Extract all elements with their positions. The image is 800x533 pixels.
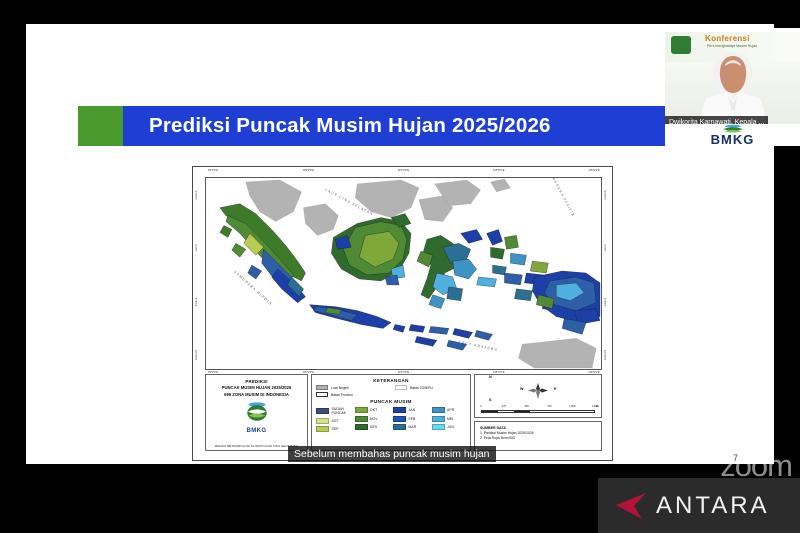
scale-unit-label: Km (595, 405, 599, 408)
scale-tick-labels: 01753507001.0501.400Km (481, 405, 595, 410)
scale-tick-label: 1.050 (569, 405, 576, 408)
lat-tick-label: 10°0'0"S (603, 350, 606, 360)
letterbox-top (0, 0, 800, 24)
map-lat-ticks-right: 5°0'0"N0°0'0"5°0'0"S10°0'0"S (603, 177, 613, 370)
keterangan-panel: KETERANGAN Luar Negeri Batas Provinsi (311, 374, 471, 451)
map-plot-area: LAUT CINA SELATAN SAMUDERA PASIFIK SAMUD… (205, 177, 602, 370)
legend-item: JUN (432, 424, 467, 430)
scale-tick-label: 700 (547, 405, 551, 408)
swatch-luar-negeri (316, 385, 328, 390)
scale-tick-label: 175 (502, 405, 506, 408)
map-title-line2: PUNCAK MUSIM HUJAN 2025/2026 (209, 385, 304, 391)
screenshot-root: Prediksi Puncak Musim Hujan 2025/2026 95… (0, 0, 800, 533)
scale-bar-segments (481, 410, 595, 413)
legend-item: SUDAH PUNCAK (316, 407, 351, 415)
compass-scale-panel: N S E W 01753507001.0501.400Km (474, 374, 602, 418)
legend-label: APR (447, 408, 454, 412)
keterangan-label: Luar Negeri (331, 386, 349, 390)
legend-swatch (393, 424, 406, 430)
webcam-bmkg-footer: BMKG (665, 124, 800, 146)
slide-title-banner: Prediksi Puncak Musim Hujan 2025/2026 (78, 106, 688, 146)
legend-swatch (355, 416, 368, 422)
legend-item: AGT (316, 418, 351, 424)
legend-label: JAN (409, 408, 416, 412)
legend-swatch (355, 407, 368, 413)
legend-column: SUDAH PUNCAKAGTSEP (316, 407, 351, 432)
keterangan-label: Batas ZOM/PU (410, 386, 433, 390)
slide-canvas: Prediksi Puncak Musim Hujan 2025/2026 95… (26, 24, 774, 464)
puncak-musim-legend: SUDAH PUNCAKAGTSEPOKTNOVDESJANFEBMARAPRM… (316, 407, 466, 432)
legend-swatch (432, 416, 445, 422)
source-line: 2. Peta Rupa Bumi BIG (480, 436, 596, 440)
lat-tick-label: 5°0'0"N (603, 191, 606, 200)
participant-video-tile[interactable]: Konferensi Pers menghadapi Musim Hujan D… (665, 28, 800, 146)
legend-swatch (393, 416, 406, 422)
source-heading: SUMBER DATA (480, 426, 596, 430)
antara-badge: ANTARA (598, 478, 800, 533)
legend-swatch (316, 426, 329, 432)
legend-swatch (316, 408, 329, 414)
map-title-line1: PREDIKSI (209, 379, 304, 384)
compass-south: S (489, 398, 491, 402)
title-accent-blue: Prediksi Puncak Musim Hujan 2025/2026 (123, 106, 688, 146)
title-accent-green (78, 106, 123, 146)
lon-tick-label: 135°0'0"E (588, 169, 599, 172)
map-side-panels: N S E W 01753507001.0501.400Km (474, 374, 602, 451)
lon-tick-label: 95°0'0"E (208, 169, 218, 172)
legend-label: AGT (332, 419, 339, 423)
keterangan-item: Luar Negeri (316, 385, 387, 390)
legend-swatch (393, 407, 406, 413)
indonesia-map-svg (206, 178, 601, 369)
legend-swatch (355, 424, 368, 430)
map-lat-ticks-left: 5°0'0"N0°0'0"5°0'0"S10°0'0"S (194, 177, 204, 370)
legend-item: OKT (355, 407, 390, 413)
legend-label: JUN (447, 425, 454, 429)
backdrop-title: Konferensi (705, 34, 750, 43)
keterangan-item: Batas ZOM/PU (395, 385, 466, 390)
legend-swatch (432, 407, 445, 413)
lat-tick-label: 5°0'0"S (603, 297, 606, 306)
page-title: Prediksi Puncak Musim Hujan 2025/2026 (149, 114, 551, 138)
compass-rose-icon (523, 379, 553, 401)
legend-label: SUDAH PUNCAK (332, 407, 351, 415)
lat-tick-label: 0°0'0" (194, 245, 197, 252)
legend-item: SEP (316, 426, 351, 432)
legend-label: DES (370, 425, 377, 429)
compass-north: N (489, 375, 492, 379)
map-scale-bar: 01753507001.0501.400Km (481, 405, 595, 413)
legend-item: MAR (393, 424, 428, 430)
legend-swatch (432, 424, 445, 430)
legend-item: APR (432, 407, 467, 413)
keterangan-item: Batas Provinsi (316, 392, 387, 397)
map-title-line3: 699 ZONA MUSIM DI INDONESIA (209, 392, 304, 398)
keterangan-label: Batas Provinsi (331, 393, 353, 397)
legend-label: NOV (370, 417, 378, 421)
puncak-musim-heading: PUNCAK MUSIM (316, 400, 466, 405)
map-title-panel: PREDIKSI PUNCAK MUSIM HUJAN 2025/2026 69… (205, 374, 308, 451)
legend-column: JANFEBMAR (393, 407, 428, 432)
legend-label: SEP (332, 427, 339, 431)
lat-tick-label: 5°0'0"N (194, 191, 197, 200)
antara-wordmark: ANTARA (656, 492, 770, 520)
source-line: 1. Prediksi Musim Hujan 2025/2026 (480, 431, 596, 435)
legend-column: OKTNOVDES (355, 407, 390, 432)
swatch-batas-provinsi (316, 392, 328, 397)
legend-label: MAR (409, 425, 417, 429)
bmkg-logo-icon (244, 400, 270, 427)
legend-item: FEB (393, 416, 428, 422)
swatch-batas-zom (395, 385, 407, 390)
lat-tick-label: 5°0'0"S (194, 297, 197, 306)
legend-item: NOV (355, 416, 390, 422)
antara-arrow-icon (612, 491, 648, 521)
lon-tick-label: 125°0'0"E (493, 169, 504, 172)
lon-tick-label: 105°0'0"E (303, 169, 314, 172)
legend-label: MEI (447, 417, 453, 421)
bmkg-wordmark: BMKG (209, 428, 304, 434)
scale-tick-label: 0 (480, 405, 481, 408)
legend-label: FEB (409, 417, 416, 421)
scale-tick-label: 350 (524, 405, 528, 408)
legend-item: DES (355, 424, 390, 430)
map-legend-strip: PREDIKSI PUNCAK MUSIM HUJAN 2025/2026 69… (205, 374, 602, 451)
legend-item: JAN (393, 407, 428, 413)
legend-swatch (316, 418, 329, 424)
lon-tick-label: 115°0'0"E (398, 169, 409, 172)
bmkg-wordmark: BMKG (711, 133, 755, 146)
live-caption: Sebelum membahas puncak musim hujan (288, 446, 496, 462)
lat-tick-label: 10°0'0"S (194, 350, 197, 360)
legend-item: MEI (432, 416, 467, 422)
lat-tick-label: 0°0'0" (603, 245, 606, 252)
legend-column: APRMEIJUN (432, 407, 467, 432)
compass-east: E (554, 387, 556, 391)
letterbox-left (0, 24, 26, 464)
backdrop-logo-icon (671, 36, 691, 54)
map-figure: 95°0'0"E105°0'0"E115°0'0"E125°0'0"E135°0… (192, 166, 613, 461)
legend-label: OKT (370, 408, 377, 412)
compass-west: W (520, 387, 523, 391)
